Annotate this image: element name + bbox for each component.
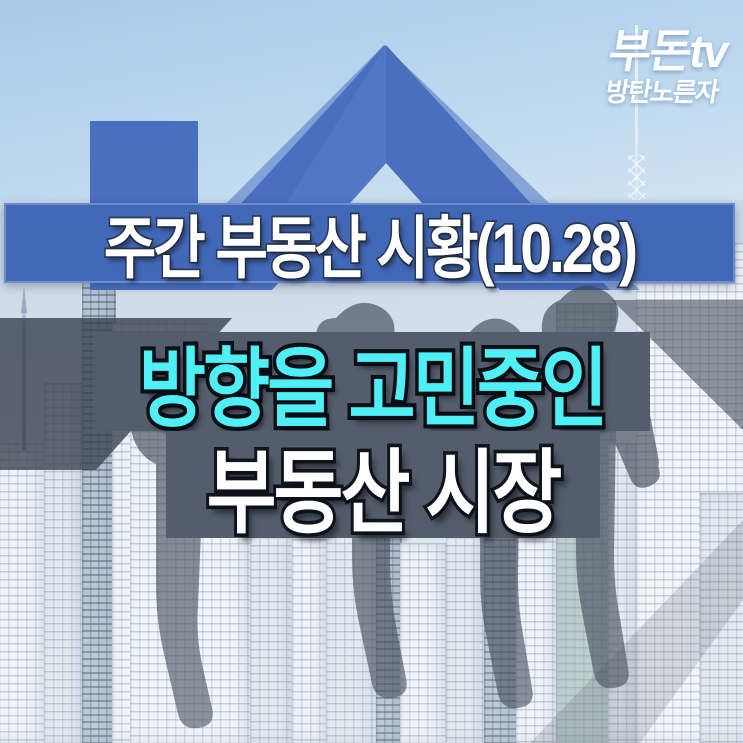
channel-logo-main: 부돈tv <box>606 28 731 74</box>
title-band: 주간 부동산 시황(10.28) <box>4 203 735 283</box>
channel-logo: 부돈tv 방탄노른자 <box>601 28 731 105</box>
channel-logo-sub: 방탄노른자 <box>601 79 723 105</box>
headline-text-secondary: 부동산 시장 <box>207 419 560 551</box>
thumbnail-canvas: 부돈tv 방탄노른자 주간 부동산 시황(10.28) 방향을 고민중인 부동산… <box>0 0 743 743</box>
headline-band-secondary: 부동산 시장 <box>166 431 600 538</box>
headline-band-primary: 방향을 고민중인 <box>94 332 650 431</box>
title-text: 주간 부동산 시황(10.28) <box>104 194 635 292</box>
